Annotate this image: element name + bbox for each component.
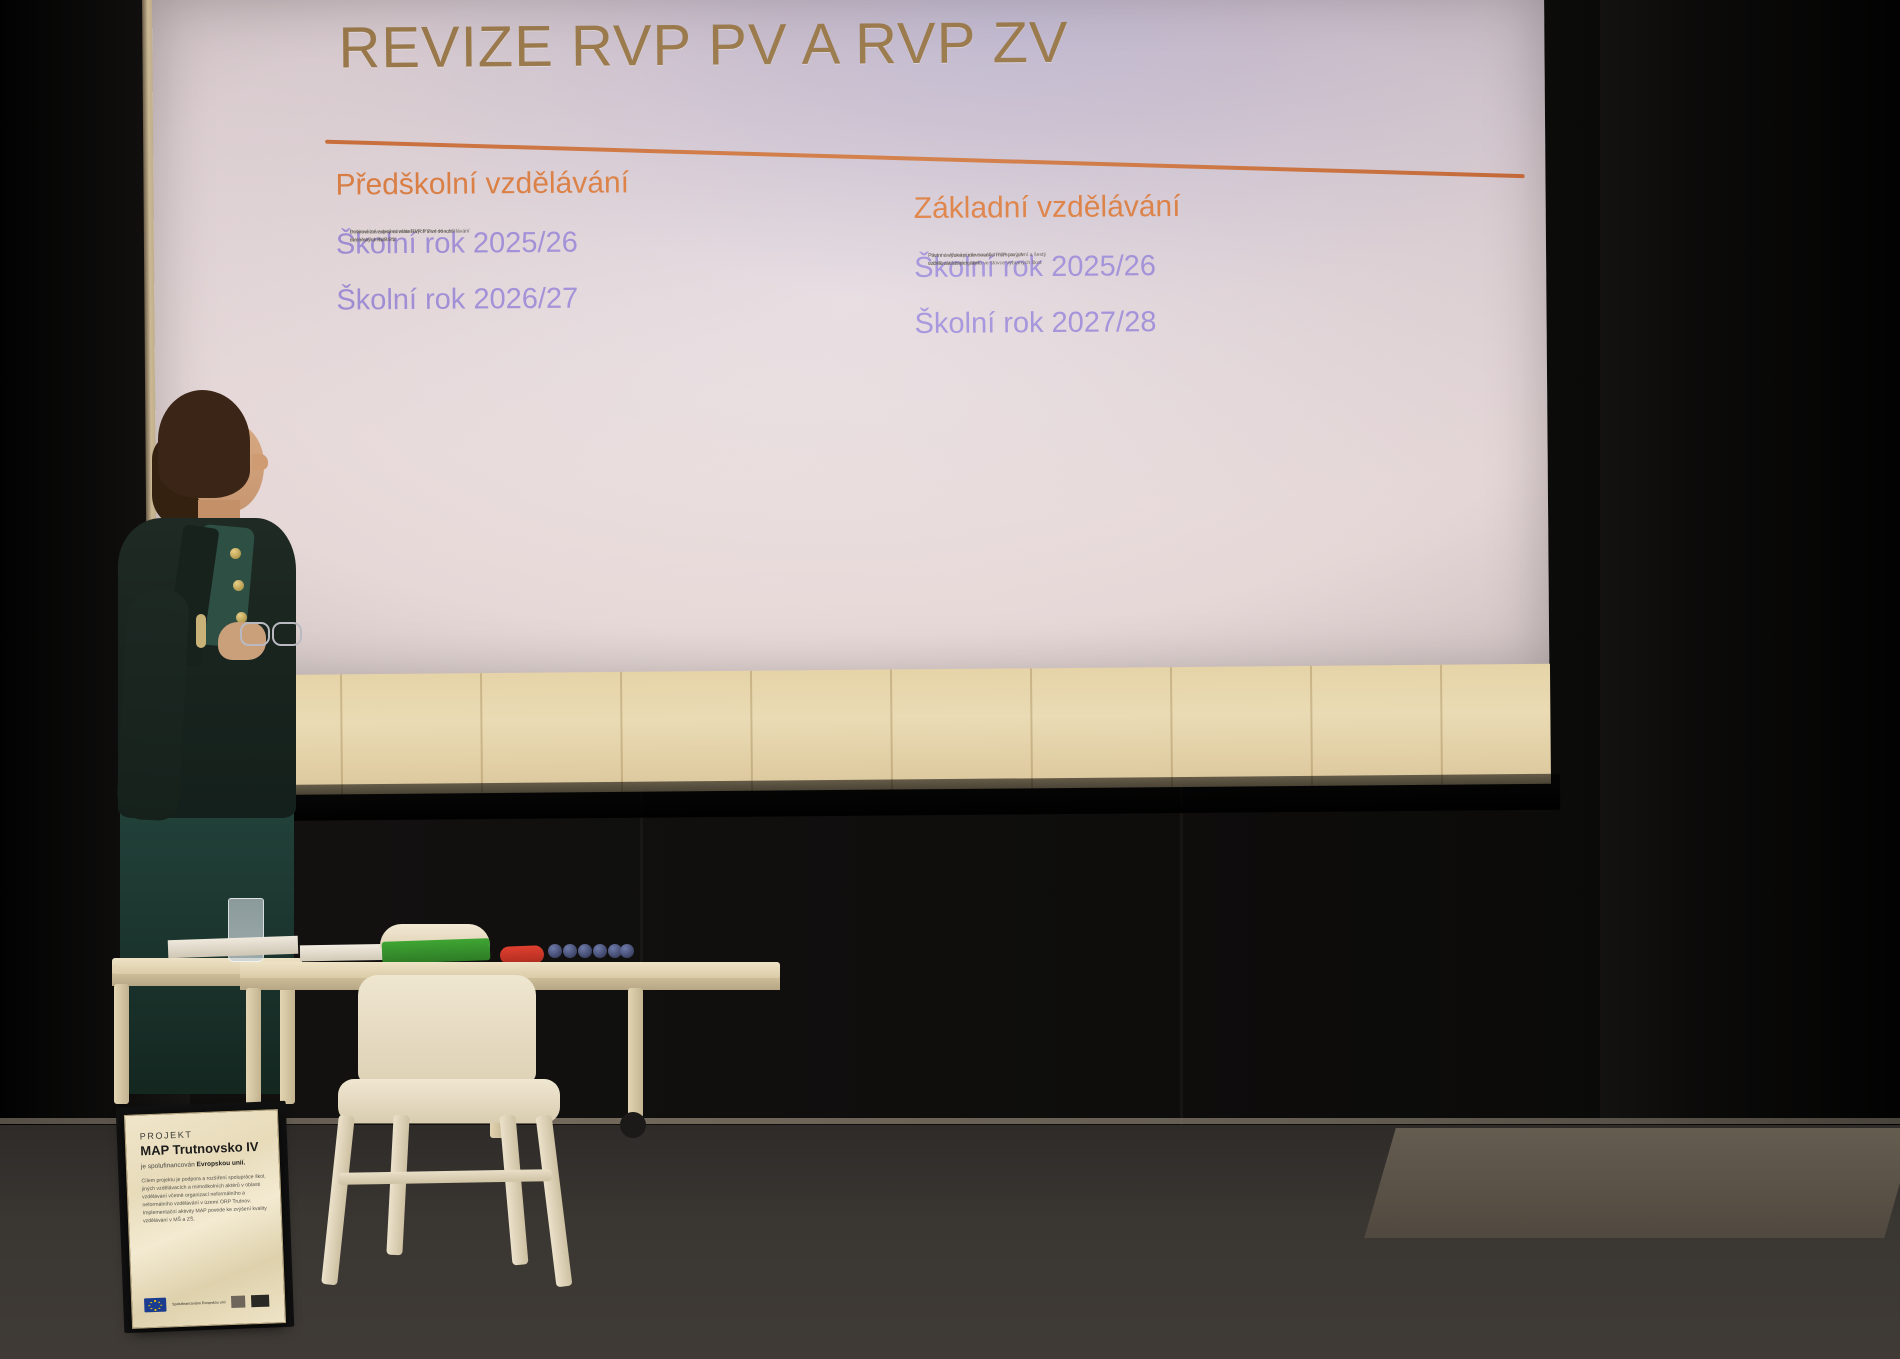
presenter-nose (252, 454, 268, 470)
chair-leg (536, 1115, 573, 1288)
poster-kicker: PROJEKT (140, 1129, 193, 1141)
presenter-bracelet (196, 614, 206, 648)
floor-light-strip (1364, 1128, 1900, 1238)
presentation-photo-scene: REVIZE RVP PV A RVP ZV Předškolní vzdělá… (0, 0, 1900, 1359)
jacket-button (233, 580, 244, 591)
column-heading: Základní vzdělávání (914, 186, 1434, 228)
slide-column-left: Předškolní vzdělávání Školní rok 2025/26… (335, 162, 881, 338)
poster-subtitle-pre: je spolufinancován (141, 1161, 197, 1170)
school-year-label: Školní rok 2026/27 (336, 278, 881, 319)
body-paragraph: Povinná výuka podle nového RVP pro první… (928, 251, 1054, 268)
poster-logo-row: Spolufinancováno Evropskou unií (144, 1292, 277, 1313)
slide: REVIZE RVP PV A RVP ZV Předškolní vzdělá… (152, 0, 1549, 686)
chair-seat (338, 1079, 560, 1123)
map-logo-icon (251, 1295, 269, 1308)
chair-backrest (358, 975, 536, 1083)
stacking-chair (330, 975, 600, 1305)
table-leg (628, 988, 643, 1118)
presenter-arm (116, 589, 190, 822)
presenter-hair (158, 390, 250, 498)
poster-subtitle-strong: Evropskou unií. (196, 1159, 245, 1168)
projection-screen: REVIZE RVP PV A RVP ZV Předškolní vzdělá… (152, 0, 1549, 696)
column-heading: Předškolní vzdělávání (335, 162, 880, 204)
eu-flag-icon (144, 1298, 167, 1313)
jacket-button (230, 548, 241, 559)
table-leg (114, 984, 129, 1104)
chair-leg (499, 1115, 528, 1266)
poster-subtitle: je spolufinancován Evropskou unií. (141, 1159, 246, 1170)
eyeglasses-held (240, 618, 304, 646)
poster-body: Cílem projektu je podpora a rozšíření sp… (141, 1173, 269, 1226)
poster-title: MAP Trutnovsko IV (140, 1139, 259, 1159)
school-year-label: Školní rok 2027/28 (914, 302, 1434, 342)
body-paragraph: Povinné zavedení nového RVP PV ve všech … (350, 227, 476, 244)
green-folder (382, 938, 491, 964)
eu-logo-caption: Spolufinancováno Evropskou unií (172, 1300, 225, 1307)
chair-leg (386, 1115, 409, 1256)
table-caster (620, 1112, 646, 1138)
project-poster[interactable]: PROJEKT MAP Trutnovsko IV je spolufinanc… (124, 1109, 286, 1329)
slide-title: REVIZE RVP PV A RVP ZV (338, 9, 1069, 82)
partner-logo-icon (231, 1296, 245, 1309)
backdrop-right-panel (1600, 0, 1900, 1150)
slide-column-right: Základní vzdělávání Školní rok 2025/26 P… (914, 186, 1435, 362)
projected-slide-surface: REVIZE RVP PV A RVP ZV Předškolní vzdělá… (152, 0, 1549, 686)
bead-necklace (548, 944, 634, 960)
